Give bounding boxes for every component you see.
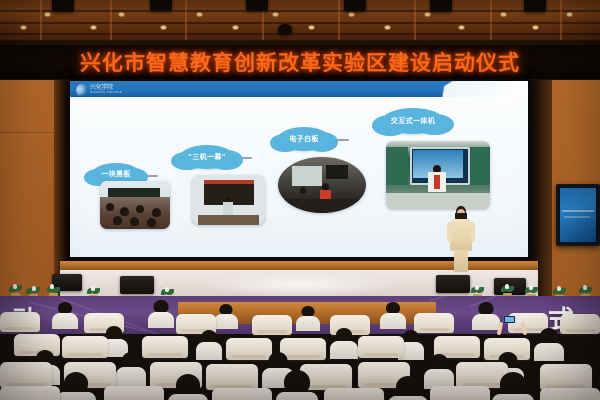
ceiling-spotlight	[348, 12, 355, 17]
ceiling-spotlight	[118, 12, 125, 17]
ceiling-spotlight	[160, 25, 167, 30]
left-wall-panel	[0, 44, 62, 300]
conference-hall-photo: 兴化市智慧教育创新改革实验区建设启动仪式 兴化学院 XINGHUA COLLEG…	[0, 0, 600, 400]
ceiling	[0, 0, 600, 44]
ceiling-speaker	[430, 0, 452, 12]
ceiling-speaker	[344, 0, 366, 11]
ceiling-spotlight	[20, 25, 27, 30]
audience-member	[276, 370, 318, 400]
audience-member	[56, 372, 96, 400]
audience-seat	[142, 336, 188, 358]
audience-seat	[358, 336, 404, 358]
ceiling-spotlight	[308, 25, 315, 30]
cloud-label-1-text: 一块黑板	[101, 169, 131, 179]
audience-member	[196, 330, 222, 358]
audience-seat	[212, 388, 272, 400]
audience-seat	[0, 312, 40, 332]
audience-member	[388, 376, 428, 400]
audience-seat	[206, 364, 258, 390]
audience-member	[534, 328, 564, 358]
audience-seat	[430, 386, 490, 400]
cloud-label-3: 电子白板	[278, 127, 330, 151]
audience-seat	[540, 364, 592, 390]
ceiling-speaker	[246, 0, 268, 11]
audience-seat	[0, 362, 52, 388]
ceiling-spotlight	[232, 25, 239, 30]
cloud-label-3-text: 电子白板	[289, 134, 319, 144]
slide-header-bar: 兴化学院 XINGHUA COLLEGE	[70, 81, 528, 97]
ceiling-speaker	[52, 0, 74, 12]
audience-seat	[324, 388, 384, 400]
audience-member	[380, 302, 406, 328]
slide-photo-classroom-students	[100, 181, 170, 229]
slide-photo-teacher-blackboard	[192, 175, 265, 225]
right-wall-panel	[548, 44, 600, 300]
slide-logo: 兴化学院 XINGHUA COLLEGE	[76, 82, 138, 96]
smartphone-recording	[504, 316, 515, 323]
slide-photo-interactive-panel	[386, 141, 490, 209]
logo-title: 兴化学院	[90, 85, 122, 90]
slide-photo-projector-classroom	[278, 157, 366, 213]
ceiling-spotlight	[384, 25, 391, 30]
ceiling-speaker	[278, 24, 292, 35]
stage-monitor-speaker	[120, 276, 154, 294]
audience-member	[168, 374, 208, 400]
ceiling-spotlight	[272, 12, 279, 17]
audience-member	[424, 354, 454, 386]
audience-seat	[540, 388, 600, 400]
cloud-label-4-text: 交互式一体机	[391, 116, 435, 126]
audience-seat	[104, 386, 164, 400]
audience-member	[472, 302, 500, 328]
ceiling-spotlight	[44, 12, 51, 17]
ceiling-spotlight	[424, 12, 431, 17]
ceiling-speaker	[150, 0, 172, 11]
audience-member	[296, 306, 320, 330]
ceiling-spotlight	[458, 25, 465, 30]
audience-member	[330, 328, 358, 356]
audience-member	[492, 372, 534, 400]
stage-monitor-speaker	[436, 275, 470, 293]
ceiling-speaker	[524, 0, 546, 12]
audience-seat	[62, 336, 108, 358]
ceiling-spotlight	[532, 25, 539, 30]
audience-seat	[0, 386, 60, 400]
ceiling-spotlight	[90, 25, 97, 30]
logo-emblem-icon	[75, 82, 90, 96]
presenter	[446, 206, 476, 272]
audience-seat	[252, 315, 292, 335]
audience-area	[0, 300, 600, 400]
cloud-label-4: 交互式一体机	[382, 108, 444, 134]
ceiling-spotlight	[566, 12, 573, 17]
ceiling-spotlight	[500, 12, 507, 17]
audience-member	[148, 300, 174, 326]
audience-member	[214, 304, 238, 328]
audience-member	[52, 302, 78, 328]
side-display-monitor	[556, 184, 600, 246]
led-banner: 兴化市智慧教育创新改革实验区建设启动仪式	[0, 44, 600, 80]
led-banner-text: 兴化市智慧教育创新改革实验区建设启动仪式	[80, 47, 520, 77]
slide-header-wedge	[398, 81, 528, 97]
cloud-label-2: "三机一幕"	[180, 145, 234, 169]
cloud-label-2-text: "三机一幕"	[188, 152, 226, 162]
audience-member	[116, 352, 146, 384]
audience-seat	[560, 314, 600, 334]
ceiling-spotlight	[196, 12, 203, 17]
